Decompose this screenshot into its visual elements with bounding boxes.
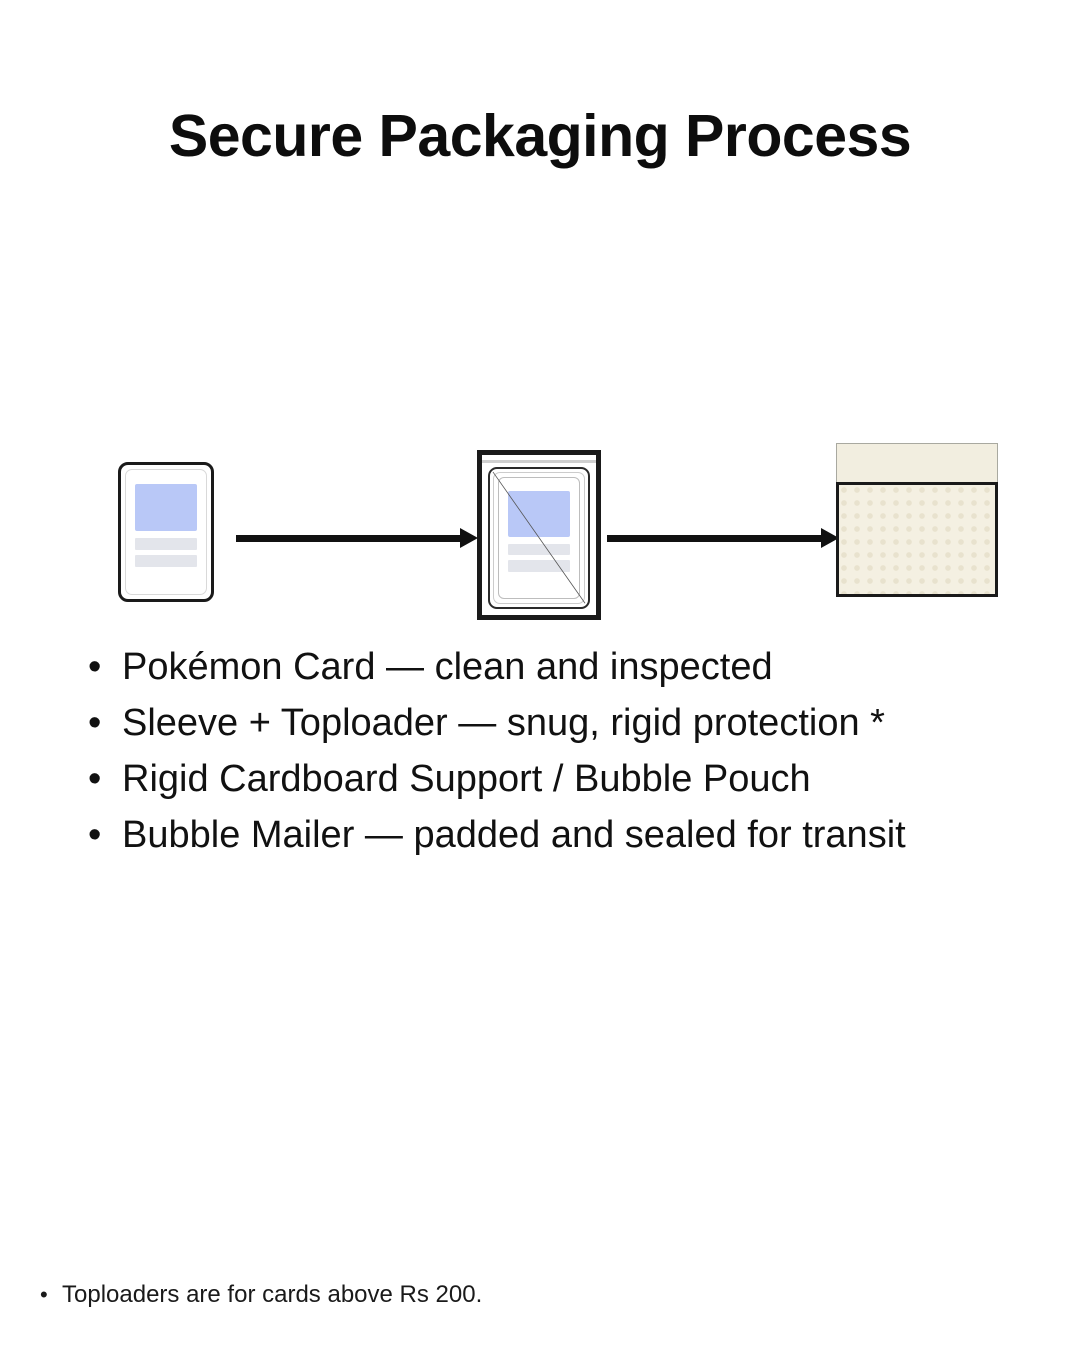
- diagram-step-bubble-mailer: [836, 443, 998, 597]
- list-item: • Pokémon Card — clean and inspected: [88, 648, 1048, 704]
- toploader-lip: [482, 460, 596, 463]
- card-text-bar-1: [135, 538, 197, 550]
- bullet-marker-icon: •: [88, 704, 122, 742]
- card-outer-border: [118, 462, 214, 602]
- sleeved-card-artwork-block: [508, 491, 570, 537]
- card-sleeve: [488, 467, 590, 609]
- list-item-label: Sleeve + Toploader — snug, rigid protect…: [122, 704, 885, 742]
- bullet-marker-icon: •: [88, 816, 122, 854]
- list-item-label: Pokémon Card — clean and inspected: [122, 648, 773, 686]
- arrow-head-icon: [460, 528, 478, 548]
- card-artwork-block: [135, 484, 197, 531]
- list-item-label: Bubble Mailer — padded and sealed for tr…: [122, 816, 906, 854]
- arrow-shaft-icon: [607, 535, 821, 542]
- card-inner-border: [125, 469, 207, 595]
- packaging-process-diagram: [0, 420, 1080, 640]
- flow-arrow-2: [607, 528, 839, 548]
- arrow-shaft-icon: [236, 535, 460, 542]
- mailer-flap: [836, 443, 998, 483]
- page-title: Secure Packaging Process: [0, 104, 1080, 169]
- list-item-label: Rigid Cardboard Support / Bubble Pouch: [122, 760, 811, 798]
- diagram-step-sleeve-toploader: [477, 450, 601, 620]
- footnote-label: Toploaders are for cards above Rs 200.: [62, 1283, 482, 1307]
- footnote-bullet-marker-icon: •: [40, 1284, 62, 1306]
- packaging-steps-list: • Pokémon Card — clean and inspected • S…: [88, 648, 1048, 872]
- bullet-marker-icon: •: [88, 760, 122, 798]
- footnote: • Toploaders are for cards above Rs 200.: [40, 1283, 482, 1307]
- flow-arrow-1: [236, 528, 478, 548]
- sleeved-card-text-bar-1: [508, 544, 570, 555]
- bubble-wrap-texture: [839, 485, 995, 594]
- card-text-bar-2: [135, 555, 197, 567]
- sleeved-card-text-bar-2: [508, 560, 570, 571]
- diagram-step-pokemon-card: [118, 462, 214, 602]
- list-item: • Bubble Mailer — padded and sealed for …: [88, 816, 1048, 872]
- list-item: • Sleeve + Toploader — snug, rigid prote…: [88, 704, 1048, 760]
- mailer-body: [836, 482, 998, 597]
- list-item: • Rigid Cardboard Support / Bubble Pouch: [88, 760, 1048, 816]
- sleeved-card: [498, 477, 580, 599]
- bullet-marker-icon: •: [88, 648, 122, 686]
